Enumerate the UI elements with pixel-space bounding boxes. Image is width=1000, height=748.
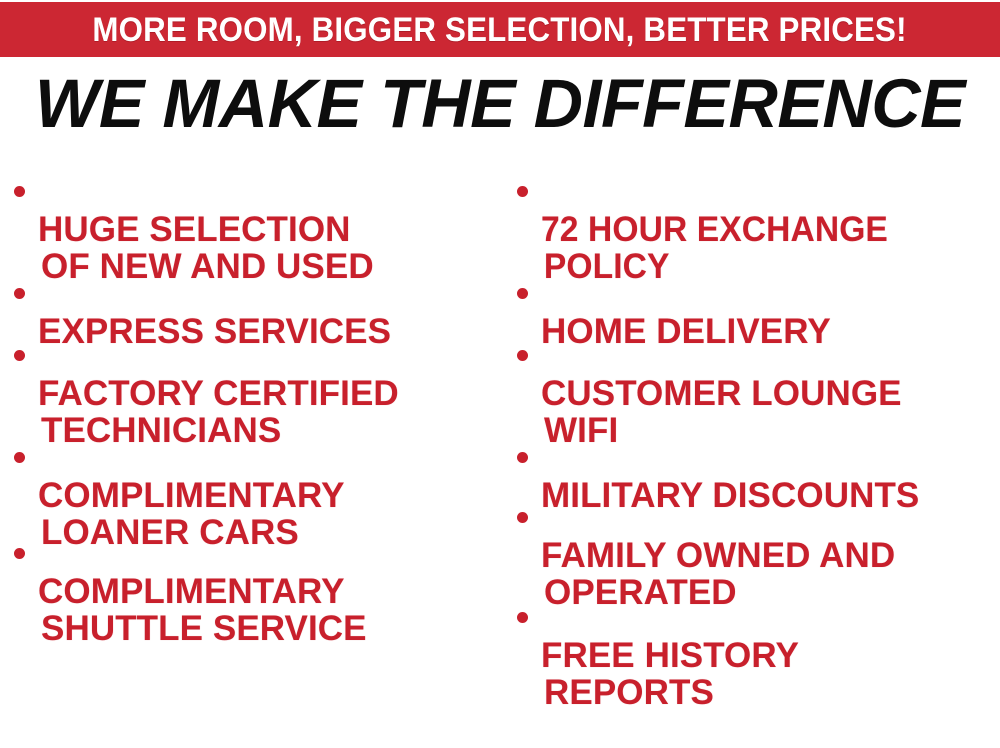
list-item-line1: FREE HISTORY	[541, 636, 799, 675]
list-item-line1: 72 HOUR EXCHANGE	[541, 210, 888, 249]
list-item-line1: COMPLIMENTARY	[38, 476, 345, 515]
bullet-dot-icon	[14, 288, 25, 299]
list-item-line1: CUSTOMER LOUNGE	[541, 374, 902, 413]
benefits-columns: HUGE SELECTION OF NEW AND USED EXPRESS S…	[0, 160, 1000, 694]
bullet-dot-icon	[517, 288, 528, 299]
bullet-dot-icon	[14, 350, 25, 361]
promo-poster: MORE ROOM, BIGGER SELECTION, BETTER PRIC…	[0, 0, 1000, 694]
headline-banner: MORE ROOM, BIGGER SELECTION, BETTER PRIC…	[0, 2, 1000, 57]
banner-text: MORE ROOM, BIGGER SELECTION, BETTER PRIC…	[93, 13, 907, 47]
list-item-line1: FAMILY OWNED AND	[541, 536, 895, 575]
list-item-label: FREE HISTORY REPORTS	[541, 600, 1000, 748]
list-item-line1: HUGE SELECTION	[38, 210, 351, 249]
bullet-dot-icon	[14, 548, 25, 559]
bullet-dot-icon	[517, 186, 528, 197]
list-item: COMPLIMENTARY SHUTTLE SERVICE	[14, 536, 504, 684]
bullet-dot-icon	[14, 452, 25, 463]
bullet-dot-icon	[517, 512, 528, 523]
list-item-line2: REPORTS	[541, 674, 1000, 711]
bullet-dot-icon	[517, 612, 528, 623]
list-item-label: COMPLIMENTARY SHUTTLE SERVICE	[38, 536, 504, 684]
benefits-column-right: 72 HOUR EXCHANGE POLICY HOME DELIVERY	[517, 160, 1000, 694]
bullet-dot-icon	[14, 186, 25, 197]
list-item-line1: FACTORY CERTIFIED	[38, 374, 399, 413]
page-title: WE MAKE THE DIFFERENCE	[5, 68, 995, 140]
benefits-column-left: HUGE SELECTION OF NEW AND USED EXPRESS S…	[14, 160, 504, 694]
list-item-line2: SHUTTLE SERVICE	[38, 610, 504, 647]
list-item-line1: COMPLIMENTARY	[38, 572, 345, 611]
list-item: FREE HISTORY REPORTS	[517, 600, 1000, 748]
bullet-dot-icon	[517, 350, 528, 361]
bullet-dot-icon	[517, 452, 528, 463]
